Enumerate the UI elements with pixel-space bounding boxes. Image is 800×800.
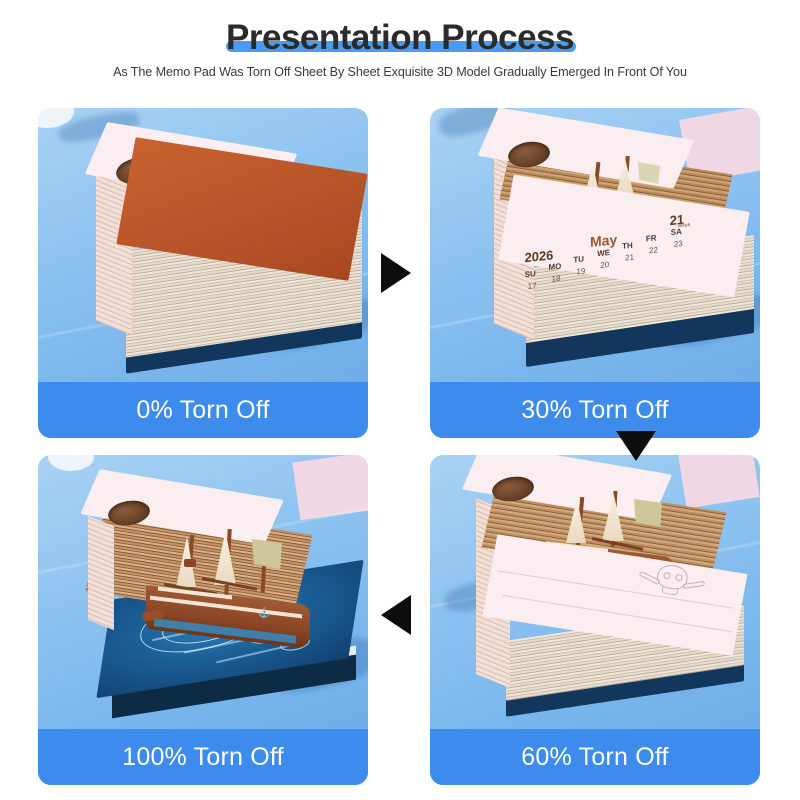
calendar-date: 19: [576, 266, 585, 276]
stage-label-text-0: 0% Torn Off: [136, 396, 269, 425]
calendar-date: 21: [625, 253, 634, 263]
stage-label-text-100: 100% Torn Off: [122, 743, 284, 772]
calendar-date: 17: [528, 281, 537, 291]
flow-arrow-left-icon: [381, 595, 411, 635]
skull-jaw-outline: [661, 586, 678, 596]
ship-anchor-icon: ⚓: [258, 609, 270, 619]
calendar-date: 18: [552, 274, 561, 284]
flow-arrow-down-icon: [616, 431, 656, 461]
stage-panel-30-percent[interactable]: 2026 May 21 Week SU MO TU WE TH FR SA 17…: [430, 108, 760, 438]
pirate-ship-model: ⚓: [140, 523, 316, 653]
ship-sail: [602, 493, 624, 541]
calendar-date: 22: [649, 245, 658, 255]
ship-sail: [214, 531, 236, 585]
background-blob: [48, 455, 94, 471]
memo-pad-3d-model: ⚓: [66, 477, 348, 745]
calendar-weekday: TU: [573, 254, 584, 264]
stage-label-text-60: 60% Torn Off: [521, 743, 668, 772]
stage-grid: 0% Torn Off: [38, 108, 762, 785]
memo-pad-block: 2026 May 21 Week SU MO TU WE TH FR SA 17…: [458, 120, 734, 378]
page-header: Presentation Process As The Memo Pad Was…: [0, 0, 800, 79]
page-title-wrap: Presentation Process: [220, 18, 580, 58]
calendar-weekday: MO: [548, 262, 561, 272]
memo-pad-block: [72, 128, 336, 368]
calendar-weekday: WE: [597, 248, 610, 258]
stage-label-bar-0: 0% Torn Off: [38, 382, 368, 438]
calendar-weekday: TH: [622, 241, 633, 251]
pad-page-stack-left: [88, 516, 114, 631]
ship-crows-nest: [184, 559, 196, 567]
stage-panel-0-percent[interactable]: 0% Torn Off: [38, 108, 368, 438]
stage-label-bar-100: 100% Torn Off: [38, 729, 368, 785]
ship-sail-rear: [252, 539, 282, 569]
page-title: Presentation Process: [226, 18, 574, 58]
stage-panel-60-percent[interactable]: 60% Torn Off: [430, 455, 760, 785]
calendar-date: 23: [674, 239, 683, 249]
calendar-date: 20: [600, 260, 609, 270]
flow-arrow-right-icon: [381, 253, 411, 293]
memo-pad-block: [450, 457, 742, 733]
calendar-weekday: SA: [671, 227, 682, 237]
stage-label-bar-60: 60% Torn Off: [430, 729, 760, 785]
calendar-weekday: FR: [646, 233, 657, 243]
stage-label-bar-30: 30% Torn Off: [430, 382, 760, 438]
stage-panel-100-percent[interactable]: ⚓ 100% Torn Off: [38, 455, 368, 785]
page-subtitle: As The Memo Pad Was Torn Off Sheet By Sh…: [0, 65, 800, 79]
stage-label-text-30: 30% Torn Off: [521, 396, 668, 425]
calendar-month: May: [590, 231, 617, 250]
ship-sail-rear: [638, 162, 660, 184]
calendar-weekday: SU: [525, 269, 536, 279]
ship-sail-rear: [634, 499, 662, 527]
